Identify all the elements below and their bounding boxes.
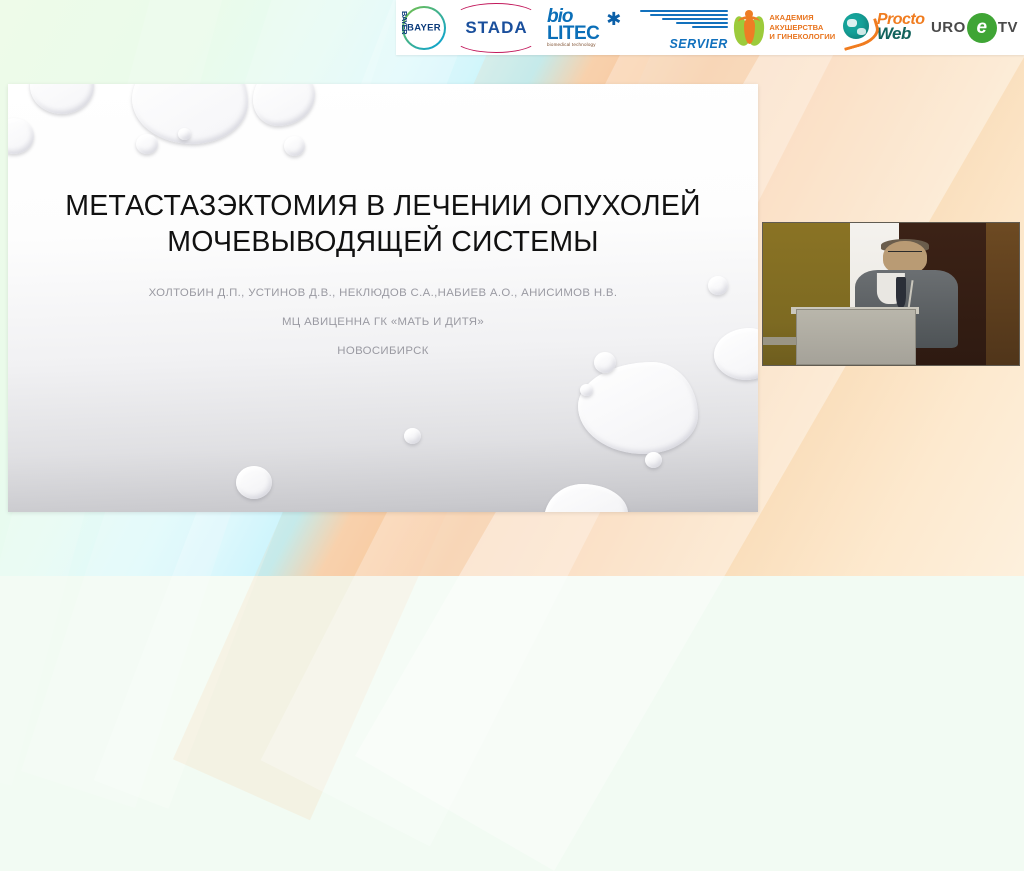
water-droplet xyxy=(8,118,34,154)
urotv-circle-icon: e xyxy=(967,13,997,43)
speaker-webcam-feed[interactable] xyxy=(762,222,1020,366)
stada-arc-bottom-icon xyxy=(454,25,538,53)
water-droplet xyxy=(404,428,421,444)
video-background-panel xyxy=(986,223,1019,365)
slide-city: НОВОСИБИРСК xyxy=(54,345,712,357)
proctoweb-logo[interactable]: Procto Web xyxy=(842,5,925,51)
servier-logo[interactable]: ✱ SERVIER xyxy=(606,5,728,51)
biolitec-logo[interactable]: bio LITEC biomedical technology xyxy=(547,5,599,51)
biolitec-tagline: biomedical technology xyxy=(547,43,599,47)
water-droplet xyxy=(236,466,272,499)
urotv-left-text: URO xyxy=(931,19,966,36)
globe-icon xyxy=(842,11,876,45)
sponsor-logo-banner: BAYER BAYER STADA bio LITEC biomedical t… xyxy=(396,0,1024,55)
speaker-glasses xyxy=(888,251,921,258)
water-droplet xyxy=(544,484,628,512)
academy-logo[interactable]: АКАДЕМИЯ АКУШЕРСТВА И ГИНЕКОЛОГИИ xyxy=(734,5,835,51)
presentation-slide[interactable]: МЕТАСТАЗЭКТОМИЯ В ЛЕЧЕНИИ ОПУХОЛЕЙ МОЧЕВ… xyxy=(8,84,758,512)
servier-logo-text: SERVIER xyxy=(669,37,727,51)
podium xyxy=(796,309,916,365)
water-droplet xyxy=(284,136,305,156)
urotv-logo[interactable]: URO e TV xyxy=(931,5,1018,51)
water-droplet xyxy=(253,84,315,126)
academy-line1: АКАДЕМИЯ xyxy=(769,13,835,23)
slide-organization: МЦ АВИЦЕННА ГК «МАТЬ И ДИТЯ» xyxy=(54,316,712,328)
slide-title: МЕТАСТАЗЭКТОМИЯ В ЛЕЧЕНИИ ОПУХОЛЕЙ МОЧЕВ… xyxy=(54,188,712,261)
water-droplet xyxy=(580,384,593,396)
bayer-cross-icon: BAYER BAYER xyxy=(402,6,446,50)
water-droplet xyxy=(136,134,158,154)
water-droplet xyxy=(578,362,698,454)
water-droplet xyxy=(645,452,662,468)
stada-logo[interactable]: STADA xyxy=(452,5,540,51)
slide-authors: ХОЛТОБИН Д.П., УСТИНОВ Д.В., НЕКЛЮДОВ С.… xyxy=(54,287,712,299)
servier-wing-icon xyxy=(628,10,728,32)
proctoweb-line2: Web xyxy=(877,27,925,42)
bayer-logo-text: BAYER xyxy=(404,23,444,33)
speaker-tie xyxy=(896,277,906,308)
academy-line3: И ГИНЕКОЛОГИИ xyxy=(769,32,835,42)
servier-star-icon: ✱ xyxy=(606,11,622,27)
urotv-right-text: TV xyxy=(998,19,1018,36)
academy-figure-icon xyxy=(734,8,764,48)
bayer-logo[interactable]: BAYER BAYER xyxy=(402,5,446,51)
water-droplet xyxy=(30,84,94,114)
biolitec-logo-line2: LITEC xyxy=(547,25,599,42)
academy-line2: АКУШЕРСТВА xyxy=(769,23,835,33)
water-droplet xyxy=(178,128,191,140)
